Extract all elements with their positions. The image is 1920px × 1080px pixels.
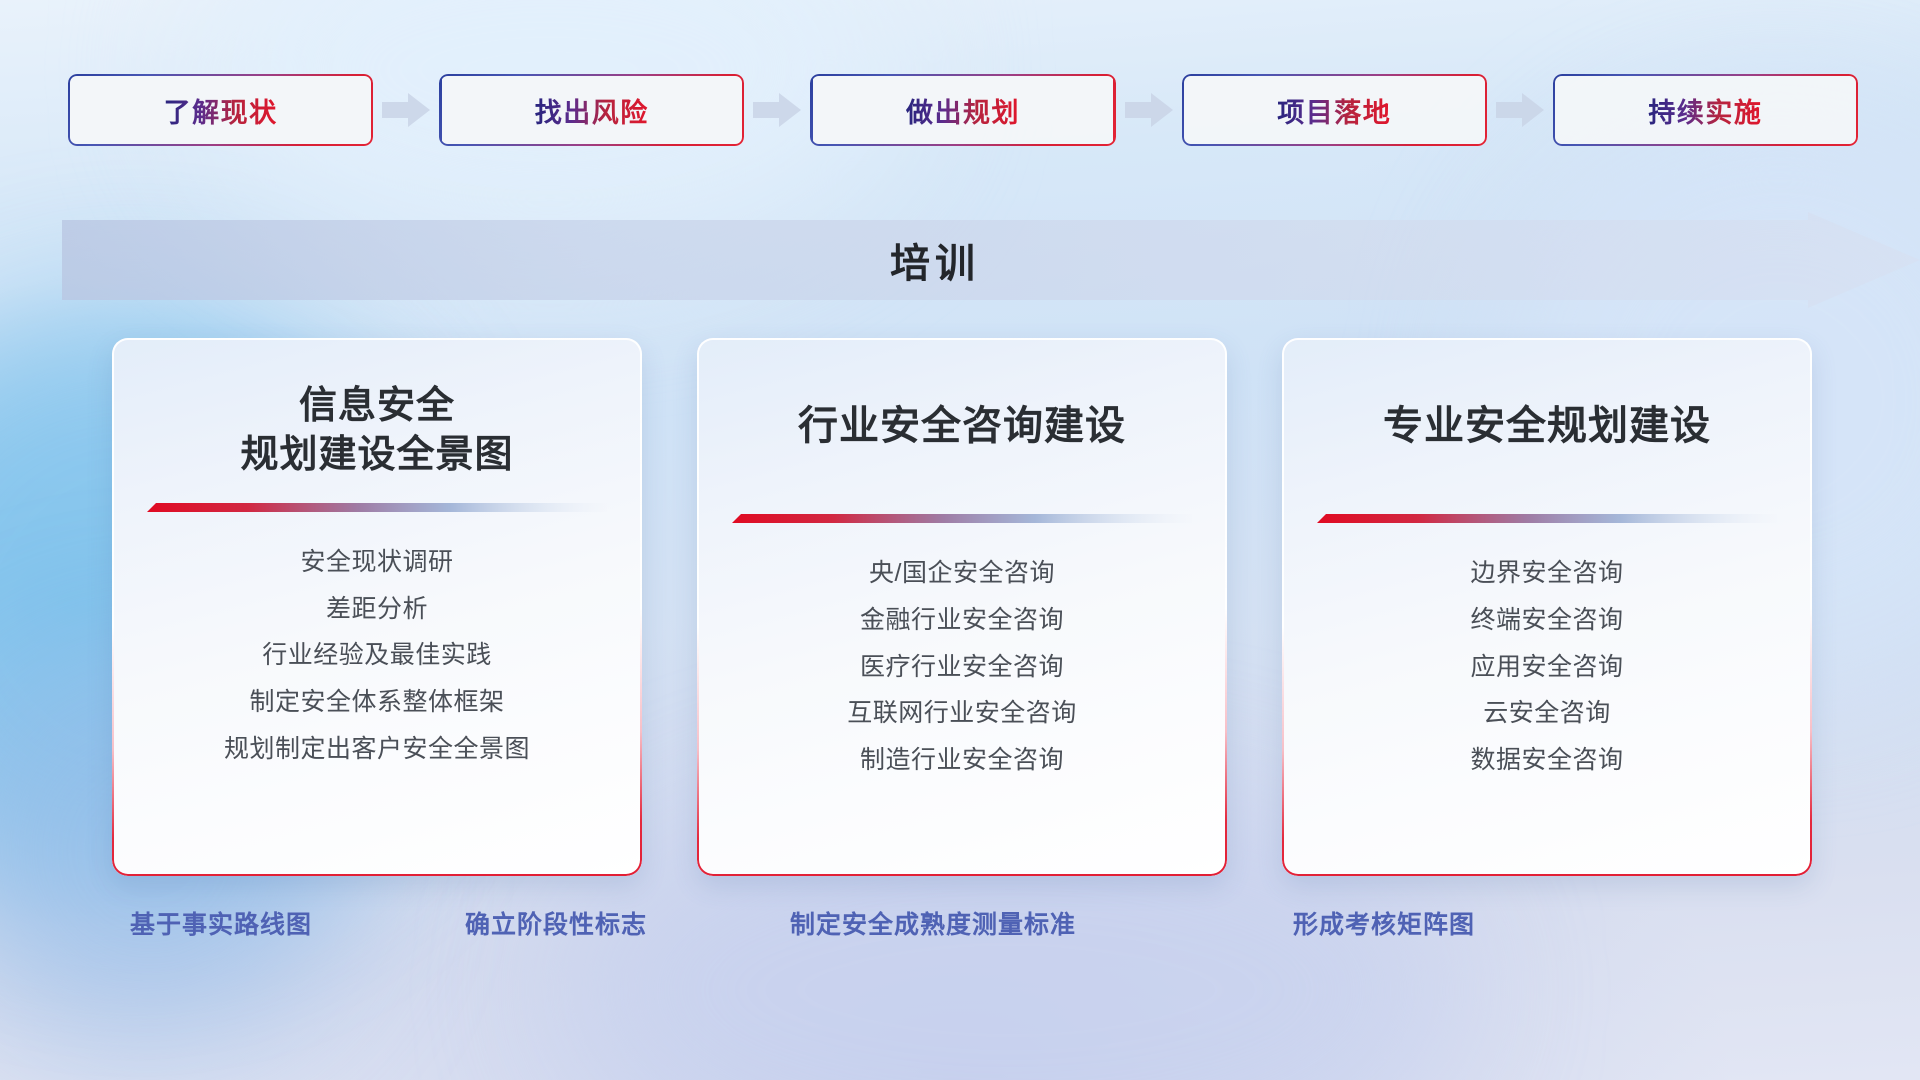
list-item[interactable]: 差距分析 xyxy=(326,595,428,624)
step-arrow-icon-3 xyxy=(1116,90,1182,130)
step-label-1: 了解现状 xyxy=(164,91,278,130)
list-item[interactable]: 应用安全咨询 xyxy=(1470,653,1623,682)
footnote-1: 基于事实路线图 xyxy=(130,905,312,941)
step-arrow-icon-4 xyxy=(1487,90,1553,130)
card-list-3: 边界安全咨询 终端安全咨询 应用安全咨询 云安全咨询 数据安全咨询 xyxy=(1308,559,1786,775)
capability-card-3[interactable]: 专业安全规划建设 xyxy=(1282,338,1812,876)
gradient-rule-icon-1 xyxy=(147,503,607,514)
step-arrow-icon-2 xyxy=(744,90,810,130)
capability-card-2[interactable]: 行业安全咨询建设 xyxy=(697,338,1227,876)
training-band: 培训 xyxy=(62,212,1920,308)
card-title-3: 专业安全规划建设 xyxy=(1383,400,1711,452)
card-title-2: 行业安全咨询建设 xyxy=(798,400,1126,452)
step-label-2: 找出风险 xyxy=(535,91,649,130)
step-label-5: 持续实施 xyxy=(1648,91,1762,130)
step-box-3[interactable]: 做出规划 xyxy=(810,74,1115,146)
list-item[interactable]: 互联网行业安全咨询 xyxy=(847,699,1077,728)
step-label-3: 做出规划 xyxy=(906,91,1020,130)
card-list-2: 央/国企安全咨询 金融行业安全咨询 医疗行业安全咨询 互联网行业安全咨询 制造行… xyxy=(723,559,1201,775)
gradient-rule-icon-2 xyxy=(732,514,1192,525)
footnote-3: 制定安全成熟度测量标准 xyxy=(790,905,1076,941)
slide-canvas: 了解现状 找出风险 做出规划 项目落地 xyxy=(0,0,1920,1080)
card-list-1: 安全现状调研 差距分析 行业经验及最佳实践 制定安全体系整体框架 规划制定出客户… xyxy=(138,548,616,764)
list-item[interactable]: 行业经验及最佳实践 xyxy=(262,641,492,670)
step-box-4[interactable]: 项目落地 xyxy=(1182,74,1487,146)
footnote-row: 基于事实路线图 确立阶段性标志 制定安全成熟度测量标准 形成考核矩阵图 xyxy=(0,905,1920,955)
gradient-rule-icon-3 xyxy=(1317,514,1777,525)
process-step-row: 了解现状 找出风险 做出规划 项目落地 xyxy=(68,74,1858,146)
training-band-title: 培训 xyxy=(62,212,1808,308)
list-item[interactable]: 安全现状调研 xyxy=(300,548,453,577)
step-box-2[interactable]: 找出风险 xyxy=(439,74,744,146)
list-item[interactable]: 央/国企安全咨询 xyxy=(869,559,1055,588)
list-item[interactable]: 金融行业安全咨询 xyxy=(860,606,1064,635)
step-label-4: 项目落地 xyxy=(1277,91,1391,130)
capability-card-1[interactable]: 信息安全 规划建设全景图 xyxy=(112,338,642,876)
list-item[interactable]: 数据安全咨询 xyxy=(1470,746,1623,775)
footnote-4: 形成考核矩阵图 xyxy=(1293,905,1475,941)
step-box-1[interactable]: 了解现状 xyxy=(68,74,373,146)
list-item[interactable]: 终端安全咨询 xyxy=(1470,606,1623,635)
card-title-1: 信息安全 规划建设全景图 xyxy=(240,382,513,481)
list-item[interactable]: 边界安全咨询 xyxy=(1470,559,1623,588)
step-arrow-icon-1 xyxy=(373,90,439,130)
list-item[interactable]: 云安全咨询 xyxy=(1483,699,1611,728)
step-box-5[interactable]: 持续实施 xyxy=(1553,74,1858,146)
footnote-2: 确立阶段性标志 xyxy=(465,905,647,941)
list-item[interactable]: 医疗行业安全咨询 xyxy=(860,653,1064,682)
capability-card-row: 信息安全 规划建设全景图 xyxy=(112,338,1812,878)
list-item[interactable]: 制定安全体系整体框架 xyxy=(249,688,504,717)
list-item[interactable]: 规划制定出客户安全全景图 xyxy=(224,735,530,764)
list-item[interactable]: 制造行业安全咨询 xyxy=(860,746,1064,775)
